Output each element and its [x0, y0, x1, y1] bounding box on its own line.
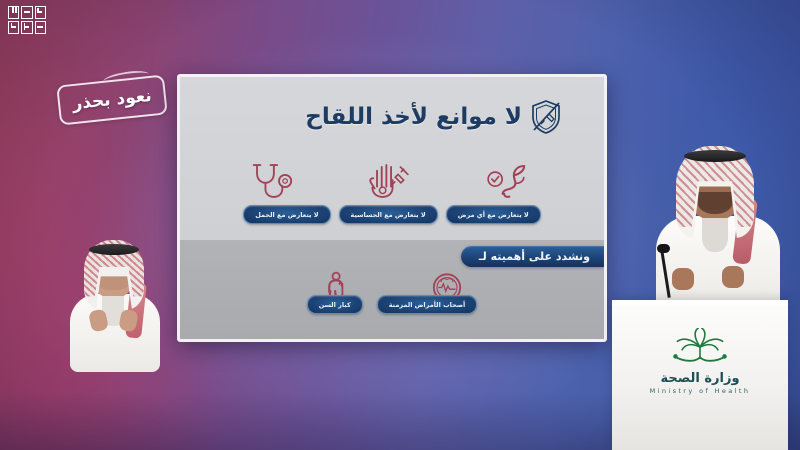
presentation-slide-panel: لا موانع لأخذ اللقاح	[177, 74, 607, 342]
logo-letter-p	[21, 21, 32, 34]
spokesperson-igal	[684, 150, 746, 162]
pregnancy-check-icon	[481, 159, 543, 201]
pill-text: لا يتعارض مع أي مرض	[458, 211, 529, 219]
podium: وزارة الصحة Ministry of Health	[612, 300, 788, 450]
section-two-labels: أصحاب الأمراض المزمنة كبار السن	[180, 295, 604, 314]
logo-letter-s	[35, 6, 46, 19]
label-no-conflict-disease: لا يتعارض مع أي مرض	[446, 205, 541, 224]
label-no-conflict-pregnancy: لا يتعارض مع الحمل	[243, 205, 330, 224]
slide-headline-text: لا موانع لأخذ اللقاح	[305, 104, 522, 130]
pill-text: أصحاب الأمراض المزمنة	[389, 301, 466, 309]
pill-text: لا يتعارض مع الحساسية	[351, 211, 426, 219]
interpreter-igal	[89, 244, 139, 255]
label-chronic-disease-patients: أصحاب الأمراض المزمنة	[377, 295, 478, 314]
spokesperson-beard	[698, 192, 732, 214]
campaign-badge-label: نعود بحذر	[71, 86, 152, 114]
logo-letter-a2	[35, 21, 46, 34]
logo-letter-a	[21, 6, 32, 19]
spokesperson-collar	[702, 218, 728, 252]
shield-syringe-icon	[530, 99, 562, 135]
label-no-conflict-allergy: لا يتعارض مع الحساسية	[339, 205, 438, 224]
palm-swords-emblem	[667, 328, 733, 370]
pill-text: لا يتعارض مع الحمل	[255, 211, 318, 219]
spokesperson-hand-right	[722, 266, 744, 288]
logo-row-spa	[8, 21, 46, 34]
logo-row-was	[8, 6, 46, 19]
broadcaster-logo	[8, 6, 46, 36]
logo-letter-w	[8, 6, 19, 19]
ministry-name-arabic: وزارة الصحة	[660, 371, 739, 386]
section-one-labels: لا يتعارض مع أي مرض لا يتعارض مع الحساسي…	[180, 205, 604, 224]
label-elderly: كبار السن	[307, 295, 363, 314]
stethoscope-icon	[241, 159, 303, 201]
section-two-banner: ونشدد على أهميته لـ	[461, 246, 604, 267]
pill-text: كبار السن	[319, 301, 351, 309]
ministry-of-health-logo: وزارة الصحة Ministry of Health	[612, 328, 788, 395]
sign-language-interpreter	[62, 238, 168, 368]
broadcast-frame: نعود بحذر لا موانع لأخذ اللقاح	[0, 0, 800, 450]
slide-headline: لا موانع لأخذ اللقاح	[305, 99, 562, 135]
microphone-icon	[657, 244, 670, 253]
logo-letter-s2	[8, 21, 19, 34]
section-one-icons	[180, 157, 604, 201]
allergy-hand-syringe-icon	[361, 159, 423, 201]
section-two-banner-text: ونشدد على أهميته لـ	[479, 250, 590, 263]
podium-top-edge	[612, 300, 788, 305]
spokesperson-hand-left	[672, 268, 694, 290]
ministry-name-english: Ministry of Health	[650, 387, 751, 395]
